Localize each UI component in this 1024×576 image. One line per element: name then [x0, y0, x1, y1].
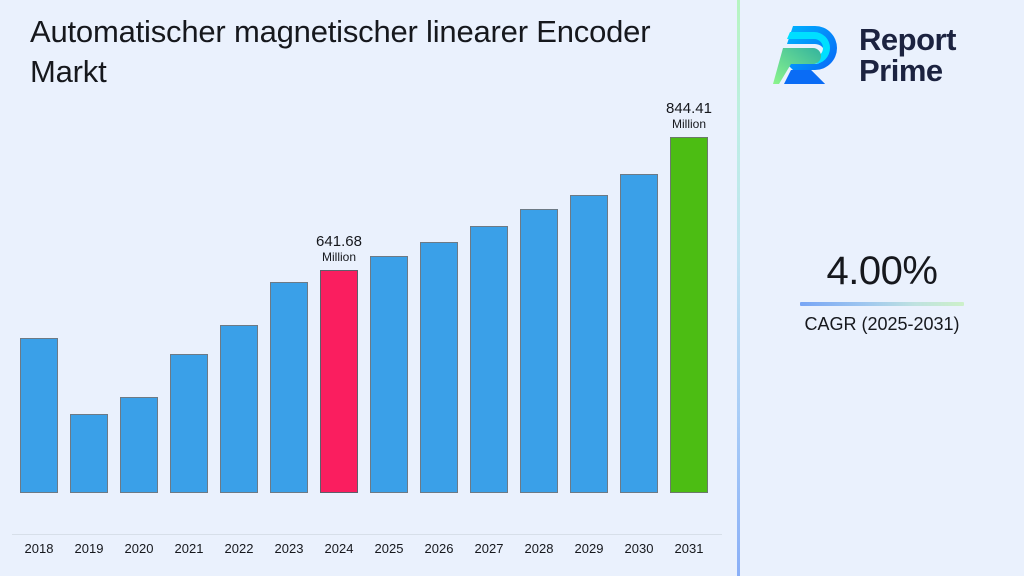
- bar-2031[interactable]: [670, 137, 708, 493]
- report-prime-r-logo-icon: [773, 18, 847, 92]
- x-axis-label-2025: 2025: [366, 541, 412, 556]
- bar-2023[interactable]: [270, 282, 308, 493]
- brand-name-line1: Report: [859, 24, 956, 55]
- bar-chart: 641.68Million844.41Million 2018201920202…: [0, 0, 737, 576]
- bar-2019[interactable]: [70, 414, 108, 493]
- bar-value-number-2024: 641.68: [316, 234, 362, 251]
- brand-name-line2: Prime: [859, 55, 956, 86]
- brand-logo: Report Prime: [773, 12, 1003, 98]
- x-axis-label-2021: 2021: [166, 541, 212, 556]
- chart-panel: Automatischer magnetischer linearer Enco…: [0, 0, 737, 576]
- bar-2030[interactable]: [620, 174, 658, 493]
- x-axis-label-2024: 2024: [316, 541, 362, 556]
- cagr-label: CAGR (2025-2031): [740, 313, 1024, 335]
- bar-2018[interactable]: [20, 338, 58, 493]
- cagr-block: 4.00% CAGR (2025-2031): [740, 248, 1024, 335]
- bar-2025[interactable]: [370, 256, 408, 493]
- x-axis-label-2023: 2023: [266, 541, 312, 556]
- bar-value-unit-2031: Million: [666, 118, 712, 131]
- bar-2029[interactable]: [570, 195, 608, 493]
- cagr-value: 4.00%: [740, 248, 1024, 294]
- x-axis-label-2028: 2028: [516, 541, 562, 556]
- bar-value-unit-2024: Million: [316, 251, 362, 264]
- x-axis-label-2018: 2018: [16, 541, 62, 556]
- bar-value-label-2024: 641.68Million: [316, 234, 362, 264]
- bar-2021[interactable]: [170, 354, 208, 493]
- x-axis-label-2020: 2020: [116, 541, 162, 556]
- bar-series: 641.68Million844.41Million: [0, 0, 737, 535]
- x-axis-label-2022: 2022: [216, 541, 262, 556]
- bar-2022[interactable]: [220, 325, 258, 493]
- bar-2028[interactable]: [520, 209, 558, 493]
- cagr-divider-rule: [800, 302, 964, 306]
- brand-wordmark: Report Prime: [859, 24, 956, 86]
- x-axis-label-2027: 2027: [466, 541, 512, 556]
- bar-value-label-2031: 844.41Million: [666, 101, 712, 131]
- bar-2024[interactable]: [320, 270, 358, 493]
- x-axis-label-2029: 2029: [566, 541, 612, 556]
- bar-2020[interactable]: [120, 397, 158, 493]
- x-axis-label-2019: 2019: [66, 541, 112, 556]
- x-axis-line: [12, 534, 722, 535]
- brand-panel: Report Prime 4.00% CAGR (2025-2031): [740, 0, 1024, 576]
- bar-value-number-2031: 844.41: [666, 101, 712, 118]
- x-axis-label-2026: 2026: [416, 541, 462, 556]
- x-axis-tick-labels: 2018201920202021202220232024202520262027…: [0, 541, 737, 571]
- x-axis-label-2030: 2030: [616, 541, 662, 556]
- chart-infographic-page: Automatischer magnetischer linearer Enco…: [0, 0, 1024, 576]
- bar-2027[interactable]: [470, 226, 508, 493]
- x-axis-label-2031: 2031: [666, 541, 712, 556]
- bar-2026[interactable]: [420, 242, 458, 493]
